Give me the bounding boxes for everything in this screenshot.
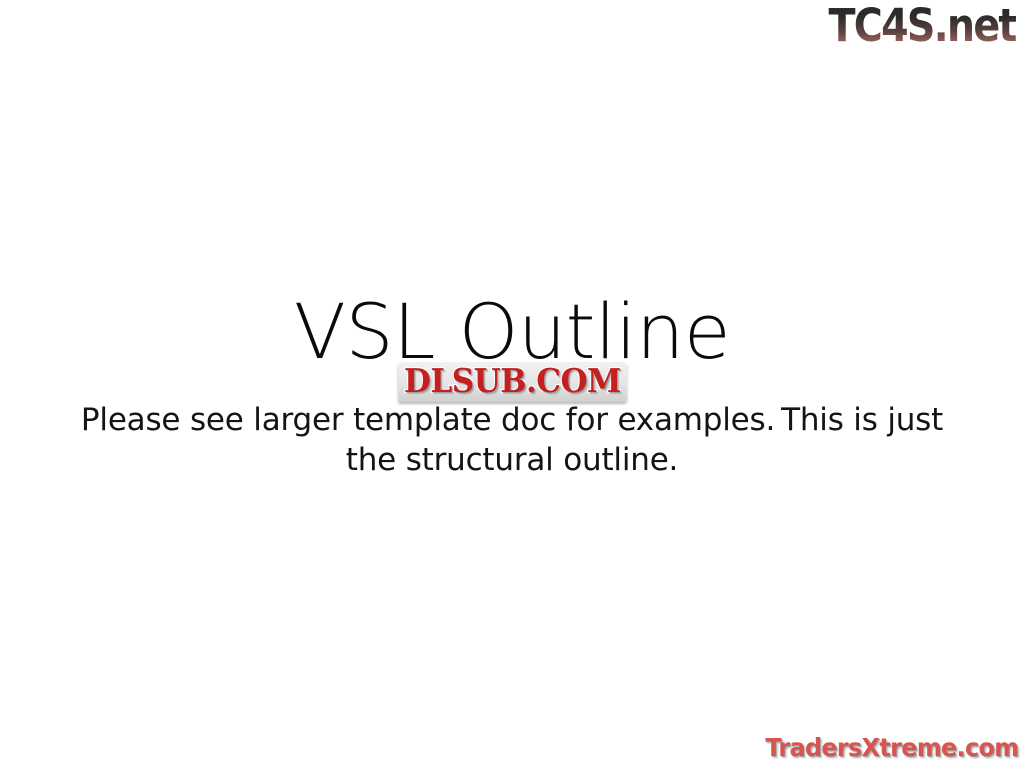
slide-body-line-2: the structural outline. [62, 440, 962, 480]
presentation-slide: VSL Outline Please see larger template d… [0, 0, 1024, 768]
slide-body-line-1: Please see larger template doc for examp… [62, 400, 962, 440]
dlsub-watermark: DLSUB.COM [398, 362, 626, 402]
tc4s-watermark: TC4S.net [829, 2, 1016, 50]
tradersxtreme-watermark: TradersXtreme.com [765, 734, 1018, 762]
slide-body-text: Please see larger template doc for examp… [62, 400, 962, 480]
dlsub-watermark-container: DLSUB.COM [0, 362, 1024, 402]
